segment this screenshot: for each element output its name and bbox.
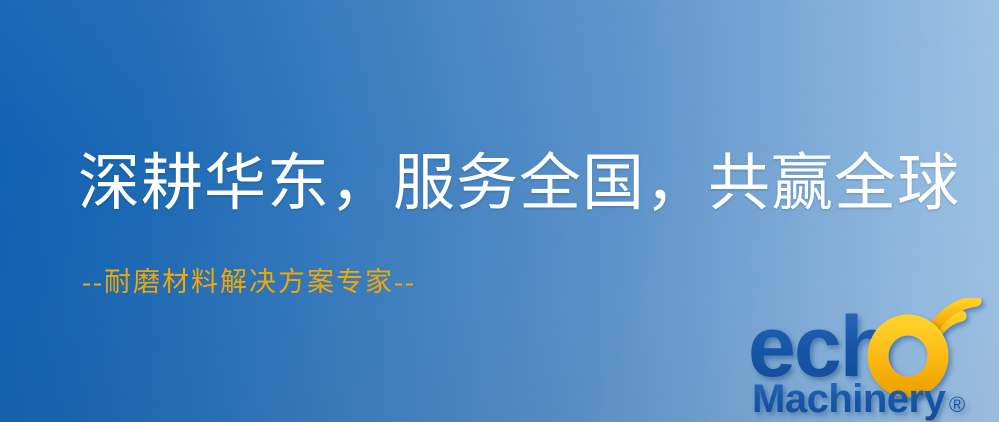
svg-text:®: ®: [949, 392, 965, 417]
banner-subtitle: --耐磨材料解决方案专家--: [82, 268, 416, 298]
echo-machinery-logo[interactable]: ech Machinery ® echo Machinery ®: [748, 298, 999, 422]
banner-headline: 深耕华东，服务全国，共赢全球: [78, 152, 960, 217]
hero-banner: 深耕华东，服务全国，共赢全球 --耐磨材料解决方案专家--: [0, 0, 999, 422]
svg-text:Machinery: Machinery: [752, 377, 947, 421]
logo-subtext-machinery: Machinery ®: [752, 377, 965, 421]
